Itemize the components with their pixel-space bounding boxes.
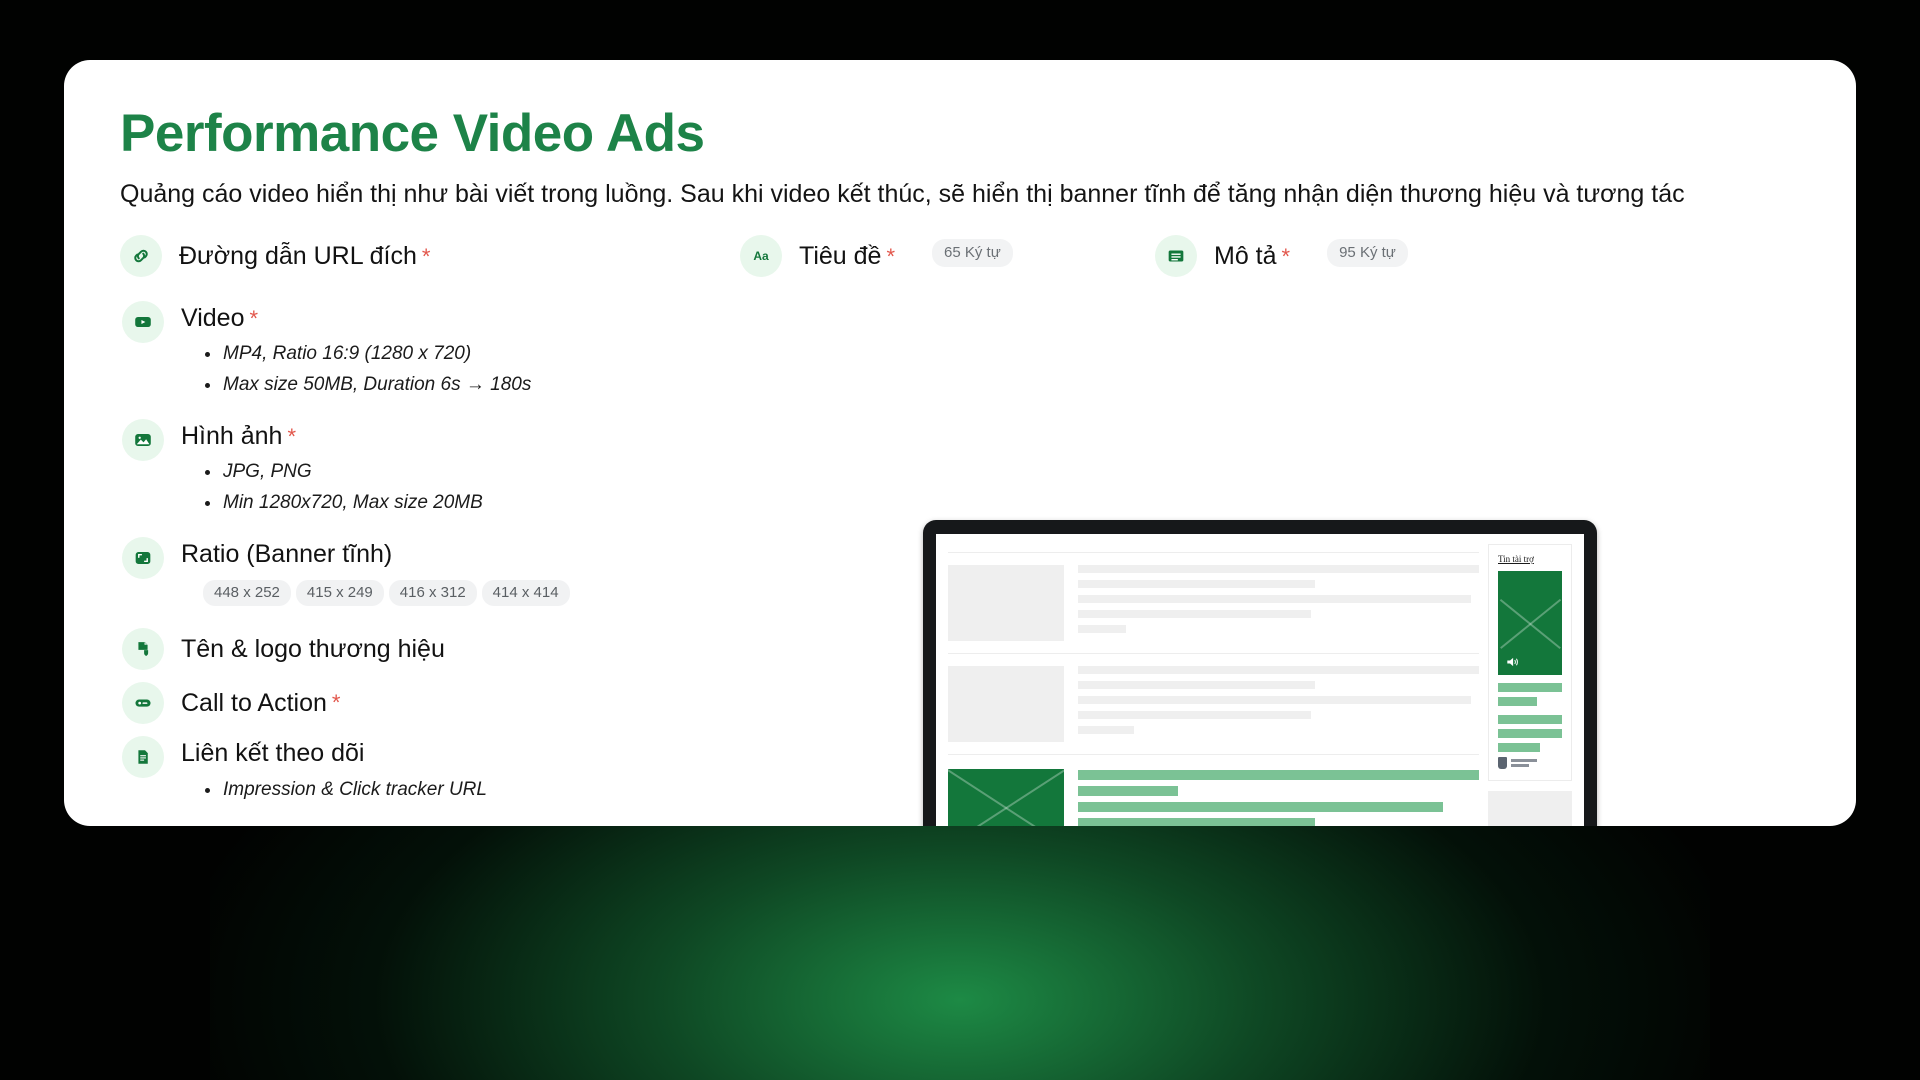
brand-name-lines [1511, 759, 1537, 767]
ratio-chip[interactable]: 416 x 312 [389, 580, 477, 606]
field-description-label: Mô tả* [1214, 240, 1290, 273]
feature-ratio[interactable]: Ratio (Banner tĩnh) 448 x 252 415 x 249 … [122, 537, 742, 607]
list-item: JPG, PNG [203, 457, 742, 488]
field-description-text: Mô tả [1214, 242, 1277, 270]
feature-video-text: Video [181, 304, 245, 332]
page-title: Performance Video Ads [120, 104, 1800, 163]
speaker-icon[interactable] [1505, 655, 1522, 669]
feature-video-label: Video* [181, 302, 742, 335]
feature-brand-name-logo[interactable]: Tên & logo thương hiệu [122, 628, 742, 670]
field-url-label: Đường dẫn URL đích* [179, 240, 430, 273]
sponsored-ad-card[interactable]: Tin tài trợ [1488, 544, 1572, 781]
feature-tracking-text: Liên kết theo dõi [181, 739, 364, 767]
top-requirements-row: Đường dẫn URL đích* Aa Tiêu đề* 65 Ký tự [120, 235, 1800, 277]
divider [948, 552, 1479, 553]
feature-video[interactable]: Video* MP4, Ratio 16:9 (1280 x 720) Max … [122, 301, 742, 401]
ratio-chip[interactable]: 415 x 249 [296, 580, 384, 606]
feature-image-label: Hình ảnh* [181, 420, 742, 453]
field-url-text: Đường dẫn URL đích [179, 242, 417, 270]
feature-brand-label: Tên & logo thương hiệu [181, 633, 445, 666]
feed-article-placeholder [948, 561, 1479, 645]
ad-brand-row [1498, 757, 1562, 769]
required-asterisk: * [1282, 244, 1291, 269]
ratio-chip[interactable]: 448 x 252 [203, 580, 291, 606]
article-text-lines [1078, 565, 1479, 641]
article-thumbnail [948, 666, 1064, 742]
article-thumbnail [948, 565, 1064, 641]
sponsored-ad-creative[interactable] [1498, 571, 1562, 675]
required-asterisk: * [422, 244, 431, 269]
sponsored-ad-text-lines [1498, 683, 1562, 752]
feature-ratio-label: Ratio (Banner tĩnh) [181, 538, 742, 571]
list-item: Max size 50MB, Duration 6s → 180s [203, 370, 742, 401]
list-item: Impression & Click tracker URL [203, 775, 742, 806]
macbook-mockup: Tin tài trợ [860, 520, 1660, 826]
video-ad-text-lines [1078, 769, 1479, 826]
link-icon [120, 235, 162, 277]
feature-cta-label: Call to Action* [181, 687, 340, 720]
feature-image-bullets: JPG, PNG Min 1280x720, Max size 20MB [181, 457, 742, 519]
svg-text:Aa: Aa [753, 249, 769, 263]
tracking-document-icon [122, 736, 164, 778]
image-icon [122, 419, 164, 461]
field-url-destination[interactable]: Đường dẫn URL đích* [120, 235, 740, 277]
description-char-count-badge: 95 Ký tự [1327, 239, 1408, 267]
ratio-chip-row: 448 x 252 415 x 249 416 x 312 414 x 414 [203, 580, 742, 606]
news-feed-preview: Tin tài trợ [936, 534, 1584, 826]
divider [948, 653, 1479, 654]
feed-main-column [948, 544, 1479, 826]
field-description[interactable]: Mô tả* 95 Ký tự [1155, 235, 1408, 277]
article-text-lines [1078, 666, 1479, 742]
text-aa-icon: Aa [740, 235, 782, 277]
sidebar-placeholder-block [1488, 791, 1572, 826]
ratio-chip[interactable]: 414 x 414 [482, 580, 570, 606]
page-subtitle: Quảng cáo video hiển thị như bài viết tr… [120, 177, 1715, 213]
field-title-text: Tiêu đề [799, 242, 881, 270]
feature-tracking-bullets: Impression & Click tracker URL [181, 775, 742, 806]
ratio-crop-icon [122, 537, 164, 579]
description-lines-icon [1155, 235, 1197, 277]
content-card: Performance Video Ads Quảng cáo video hi… [64, 60, 1856, 826]
feature-tracking-links[interactable]: Liên kết theo dõi Impression & Click tra… [122, 736, 742, 805]
required-asterisk: * [250, 306, 259, 331]
required-asterisk: * [886, 244, 895, 269]
feed-article-placeholder [948, 662, 1479, 746]
video-ad-creative[interactable] [948, 769, 1064, 826]
field-title[interactable]: Aa Tiêu đề* 65 Ký tự [740, 235, 1155, 277]
brand-logo-mark-icon [1498, 757, 1507, 769]
feature-call-to-action[interactable]: Call to Action* [122, 682, 742, 724]
feature-image[interactable]: Hình ảnh* JPG, PNG Min 1280x720, Max siz… [122, 419, 742, 519]
feature-video-bullets: MP4, Ratio 16:9 (1280 x 720) Max size 50… [181, 339, 742, 401]
list-item: MP4, Ratio 16:9 (1280 x 720) [203, 339, 742, 370]
field-title-label: Tiêu đề* [799, 240, 895, 273]
feature-cta-text: Call to Action [181, 687, 327, 720]
divider [948, 754, 1479, 755]
feature-tracking-label: Liên kết theo dõi [181, 737, 742, 770]
speaker-icon[interactable] [955, 825, 972, 826]
brand-logo-icon [122, 628, 164, 670]
feature-image-text: Hình ảnh [181, 422, 282, 450]
laptop-screen-bezel: Tin tài trợ [923, 520, 1597, 826]
required-asterisk: * [287, 424, 296, 449]
video-play-icon [122, 301, 164, 343]
title-char-count-badge: 65 Ký tự [932, 239, 1013, 267]
feature-brand-text: Tên & logo thương hiệu [181, 633, 445, 666]
content-columns: Đường dẫn URL đích* Aa Tiêu đề* 65 Ký tự [120, 235, 1800, 277]
feature-list: Video* MP4, Ratio 16:9 (1280 x 720) Max … [122, 301, 742, 806]
laptop-viewport: Tin tài trợ [936, 534, 1584, 826]
feed-sidebar-column: Tin tài trợ [1488, 544, 1572, 826]
list-item: Min 1280x720, Max size 20MB [203, 488, 742, 519]
feature-ratio-text: Ratio (Banner tĩnh) [181, 540, 392, 568]
sponsored-label: Tin tài trợ [1498, 554, 1562, 564]
in-feed-video-ad[interactable] [948, 763, 1479, 826]
required-asterisk: * [332, 689, 341, 718]
cta-button-icon [122, 682, 164, 724]
